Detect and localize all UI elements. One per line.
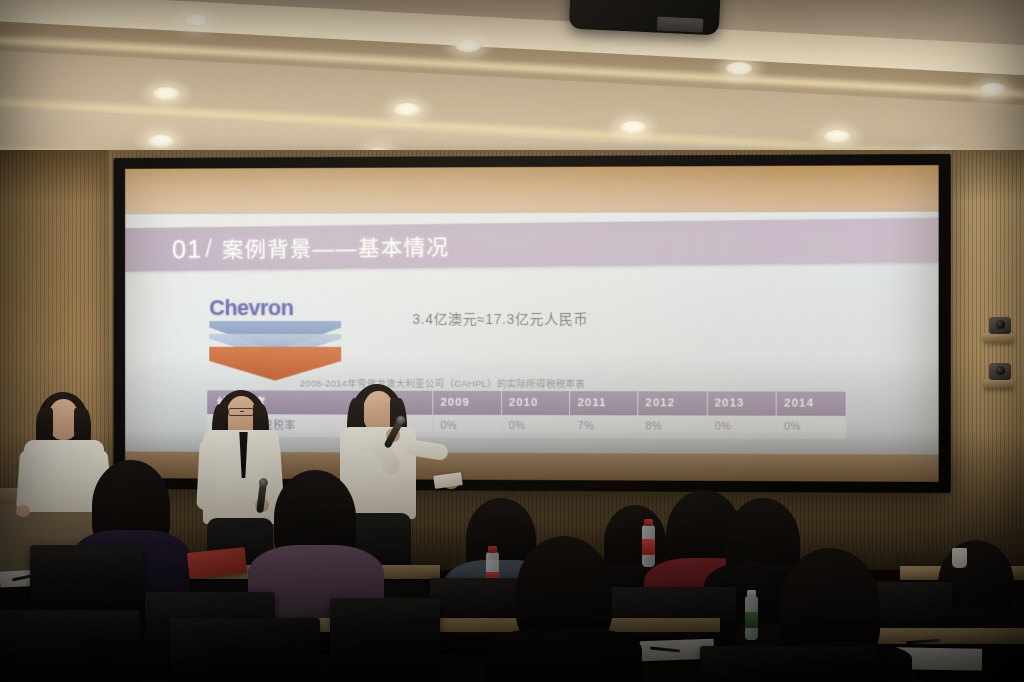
downlight-icon: [726, 62, 752, 75]
downlight-icon: [394, 103, 420, 116]
hand-left: [16, 505, 30, 517]
slide-amount-text: 3.4亿澳元≈17.3亿元人民币: [412, 309, 588, 329]
downlight-icon: [183, 14, 209, 27]
chair-back: [700, 646, 878, 682]
lecture-hall-photo: 01 / 案例背景——基本情况 Chevron 3.4亿澳元≈17.3亿元人民币…: [0, 0, 1024, 682]
glasses-icon: [228, 408, 254, 416]
chevron-logo: Chevron: [209, 295, 343, 381]
table-header-year: 2009: [433, 391, 501, 415]
slide-section-number: 01: [172, 234, 203, 265]
paper-cup: [952, 548, 967, 568]
bottle-label: [642, 539, 655, 555]
slide-heading: 案例背景——基本情况: [222, 230, 450, 265]
downlight-icon: [980, 83, 1006, 96]
downlight-icon: [620, 121, 646, 134]
slide-separator: /: [205, 234, 212, 263]
table-header-year: 2011: [570, 391, 638, 415]
lens-icon: [996, 320, 1005, 329]
ceiling: [0, 0, 1024, 172]
chevron-wordmark: Chevron: [209, 295, 343, 321]
wall-speaker-upper: [981, 312, 1015, 342]
chair-back: [0, 610, 140, 682]
downlight-icon: [153, 87, 179, 100]
table-header-year: 2010: [501, 391, 570, 415]
bracket: [983, 333, 1013, 342]
downlight-icon: [455, 39, 481, 52]
chair-back: [30, 545, 142, 617]
table-header-row: 纳税年度 2008 2009 2010 2011 2012 2013 2014: [207, 390, 846, 416]
bottle-cap: [488, 546, 497, 553]
downlight-icon: [148, 135, 174, 148]
chair-back: [330, 598, 440, 682]
chair-back: [170, 618, 320, 682]
bottle-cap: [747, 590, 756, 597]
bottle-label: [745, 612, 758, 628]
table-caption: 2008-2014年雪佛龙澳大利亚公司（CAHPL）的实际所得税税率表: [300, 376, 585, 390]
table-header-year: 2014: [776, 391, 846, 415]
bottle-cap: [644, 519, 653, 526]
arm-left: [196, 440, 218, 511]
chevron-logo-mark: [209, 321, 341, 381]
water-bottle: [745, 596, 758, 640]
lens-icon: [996, 366, 1005, 375]
slide-title-bar: 01 / 案例背景——基本情况: [125, 218, 939, 272]
downlight-icon: [824, 130, 850, 143]
table-header-year: 2012: [638, 391, 707, 415]
water-bottle: [642, 525, 655, 567]
bracket: [983, 379, 1013, 388]
body-silhouette: [486, 628, 642, 682]
table-header-year: 2013: [707, 391, 776, 415]
wall-speaker-lower: [981, 358, 1015, 388]
